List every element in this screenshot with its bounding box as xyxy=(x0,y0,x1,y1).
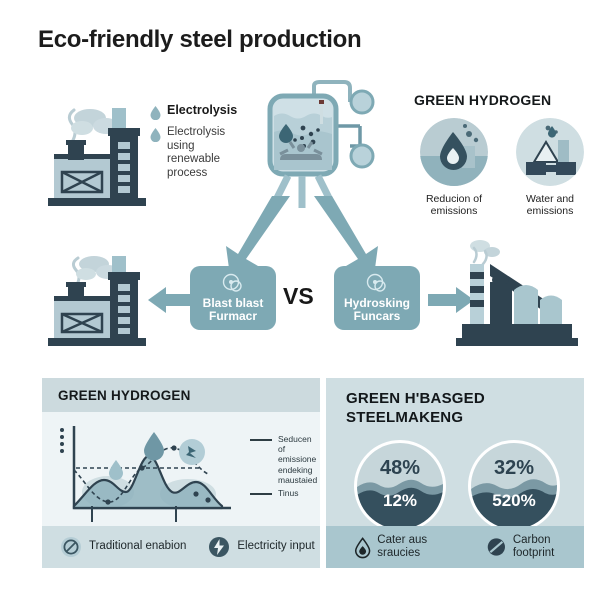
footer-label: Carbon footprint xyxy=(513,534,584,560)
gh-item-reduction: Reducion of emissions xyxy=(414,118,494,217)
smokestack-factory-icon xyxy=(38,98,156,216)
carbon-slash-icon xyxy=(486,535,507,559)
legend-item: Seducen of emissione endeking maustaied xyxy=(250,434,318,485)
legend-swatch xyxy=(250,493,272,495)
panel-right-footer: Cater aus sraucies Carbon footprint xyxy=(326,526,584,568)
gh-caption: Reducion of emissions xyxy=(414,193,494,217)
no-entry-icon xyxy=(60,536,82,558)
legend-swatch xyxy=(250,439,272,441)
stat-bottom-value: 12% xyxy=(357,491,443,511)
gauge-circle-icon xyxy=(222,273,244,295)
donut-group: 48% 12% 32% 520% xyxy=(354,440,560,532)
panel-left-footer: Traditional enabion Electricity input xyxy=(42,526,320,568)
legend-item: Tinus xyxy=(250,488,318,498)
footer-item-traditional: Traditional enabion xyxy=(60,536,186,558)
green-hydrogen-chart-panel: GREEN HYDROGEN xyxy=(42,378,320,568)
electrolysis-body: Electrolysis using renewable process xyxy=(167,126,245,180)
footer-item-carbon: Carbon footprint xyxy=(486,534,584,560)
water-drop-icon xyxy=(150,106,161,120)
legend-label: Seducen of emissione endeking maustaied xyxy=(278,434,318,485)
electrolysis-heading-row: Electrolysis xyxy=(150,104,245,120)
panel-left-header: GREEN HYDROGEN xyxy=(42,378,320,412)
green-hydrogen-steelmaking-panel: GREEN H'BASGED STEELMAKENG 48% 12% 32% 5… xyxy=(326,378,584,568)
footer-item-water: Cater aus sraucies xyxy=(354,534,460,560)
industrial-plant-icon xyxy=(452,236,578,350)
green-hydrogen-title: GREEN HYDROGEN xyxy=(414,92,590,108)
footer-label: Traditional enabion xyxy=(89,540,186,553)
panel-right-title: GREEN H'BASGED STEELMAKENG xyxy=(346,390,584,428)
arrow-left-icon xyxy=(148,285,194,315)
stat-circle-water: 48% 12% xyxy=(354,440,446,532)
vs-label: VS xyxy=(283,283,314,310)
stat-bottom-value: 520% xyxy=(471,491,557,511)
electrolysis-body-row: Electrolysis using renewable process xyxy=(150,126,245,180)
panel-left-title: GREEN HYDROGEN xyxy=(58,388,191,403)
mountain-rain-icon xyxy=(516,118,584,186)
stat-circle-carbon: 32% 520% xyxy=(468,440,560,532)
electrolyzer-tank-icon xyxy=(258,80,386,212)
footer-label: Cater aus sraucies xyxy=(377,534,460,560)
water-drop-icon xyxy=(150,128,161,142)
water-drop-outline-icon xyxy=(354,535,371,559)
infographic-canvas: Eco-friendly steel production Elec xyxy=(0,0,600,600)
electrolysis-block: Electrolysis Electrolysis using renewabl… xyxy=(150,104,245,186)
stat-top-value: 48% xyxy=(357,457,443,480)
chart-legend: Seducen of emissione endeking maustaied … xyxy=(250,434,318,501)
smokestack-factory-icon xyxy=(38,252,156,352)
gh-item-water: Water and emissions xyxy=(510,118,590,217)
green-hydrogen-top-section: GREEN HYDROGEN Reducion of emission xyxy=(414,92,590,217)
page-title: Eco-friendly steel production xyxy=(38,26,361,54)
footer-item-electricity: Electricity input xyxy=(208,536,314,558)
card-label: Hydrosking Funcars xyxy=(334,297,420,323)
card-label: Blast blast Furmacr xyxy=(190,297,276,323)
lightning-bolt-icon xyxy=(208,536,230,558)
gh-caption: Water and emissions xyxy=(510,193,590,217)
gauge-circle-icon xyxy=(366,273,388,295)
footer-label: Electricity input xyxy=(237,540,314,553)
emissions-area-chart xyxy=(56,422,246,522)
comparison-card-hydrogen[interactable]: Hydrosking Funcars xyxy=(334,266,420,330)
electrolysis-heading: Electrolysis xyxy=(167,104,237,118)
green-hydrogen-icon-list: Reducion of emissions xyxy=(414,118,590,217)
comparison-card-blast-furnace[interactable]: Blast blast Furmacr xyxy=(190,266,276,330)
stat-top-value: 32% xyxy=(471,457,557,480)
droplet-flame-icon xyxy=(420,118,488,186)
legend-label: Tinus xyxy=(278,488,298,498)
